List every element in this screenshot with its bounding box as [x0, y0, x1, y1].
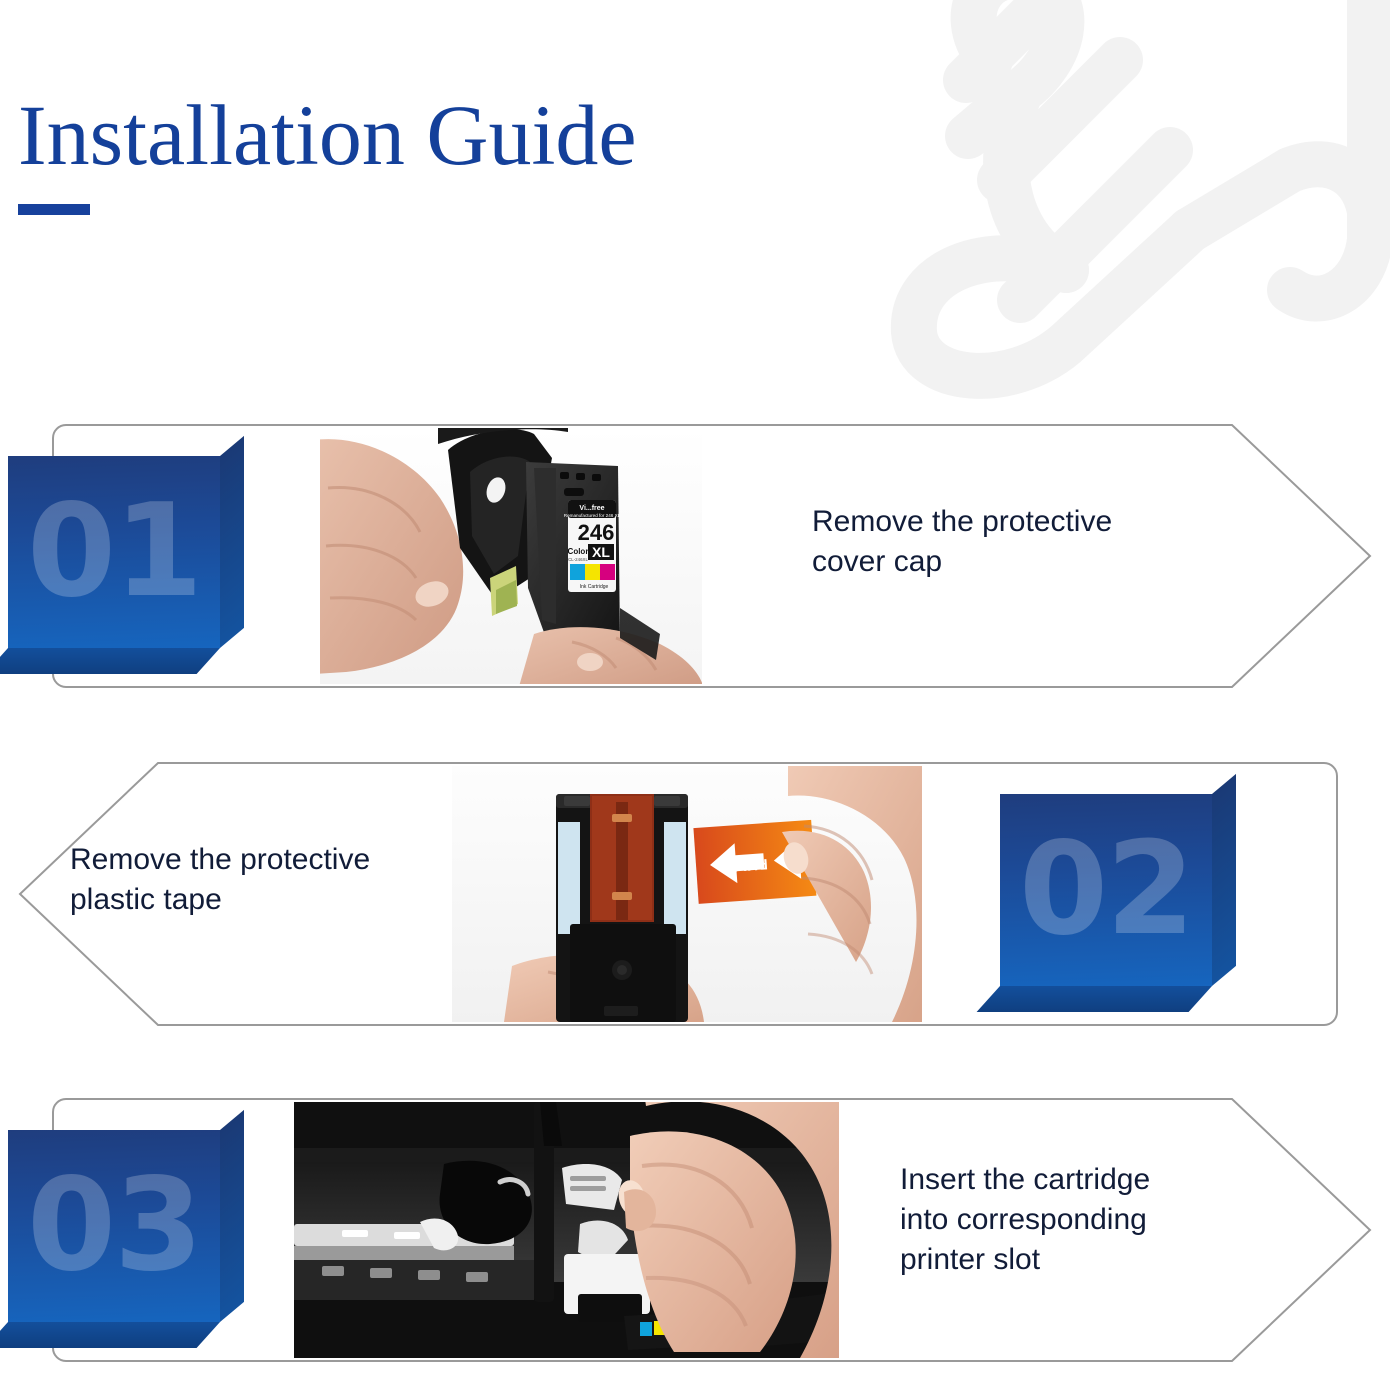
block-edge-bottom [0, 648, 220, 674]
photo-insert-cartridge [294, 1102, 839, 1358]
step-item-02: PULL PULL 02 Remove the protective plast… [0, 762, 1390, 1026]
step-number-label: 02 [1000, 826, 1212, 954]
block-edge-right [220, 1110, 244, 1322]
block-edge-right [220, 436, 244, 648]
photo-remove-plastic-tape: PULL PULL [452, 766, 922, 1022]
step-item-03: 03 Insert the cartridge into correspondi… [0, 1098, 1390, 1362]
step-description-02: Remove the protective plastic tape [70, 840, 490, 920]
step-description-01: Remove the protective cover cap [812, 502, 1212, 582]
step-number-label: 03 [8, 1162, 220, 1290]
page-title: Installation Guide [18, 92, 637, 178]
svg-text:PULL: PULL [728, 855, 768, 875]
svg-text:XL: XL [592, 544, 610, 560]
script-letter-watermark [870, 0, 1390, 410]
block-face: 02 [1000, 794, 1212, 986]
photo-remove-cover-cap: Vi...free Remanufactured for 246 XL 246 … [320, 428, 702, 684]
step-number-block-02: 02 [1000, 794, 1248, 1014]
svg-text:Vi...free: Vi...free [579, 505, 604, 512]
svg-text:Remanufactured for 246 XL: Remanufactured for 246 XL [564, 513, 621, 518]
block-face: 01 [8, 456, 220, 648]
svg-text:Color: Color [568, 547, 589, 556]
block-edge-bottom [0, 1322, 220, 1348]
page-header: Installation Guide [18, 92, 637, 215]
step-number-label: 01 [8, 488, 220, 616]
svg-text:CL-246XL: CL-246XL [568, 557, 588, 562]
step-number-block-01: 01 [8, 456, 256, 676]
svg-text:246: 246 [578, 520, 615, 545]
block-face: 03 [8, 1130, 220, 1322]
step-item-01: Vi...free Remanufactured for 246 XL 246 … [0, 424, 1390, 688]
svg-text:Ink Cartridge: Ink Cartridge [580, 584, 609, 590]
block-edge-right [1212, 774, 1236, 986]
step-number-block-03: 03 [8, 1130, 256, 1350]
title-accent-rule [18, 204, 90, 215]
step-description-03: Insert the cartridge into corresponding … [900, 1160, 1230, 1280]
block-edge-bottom [977, 986, 1212, 1012]
